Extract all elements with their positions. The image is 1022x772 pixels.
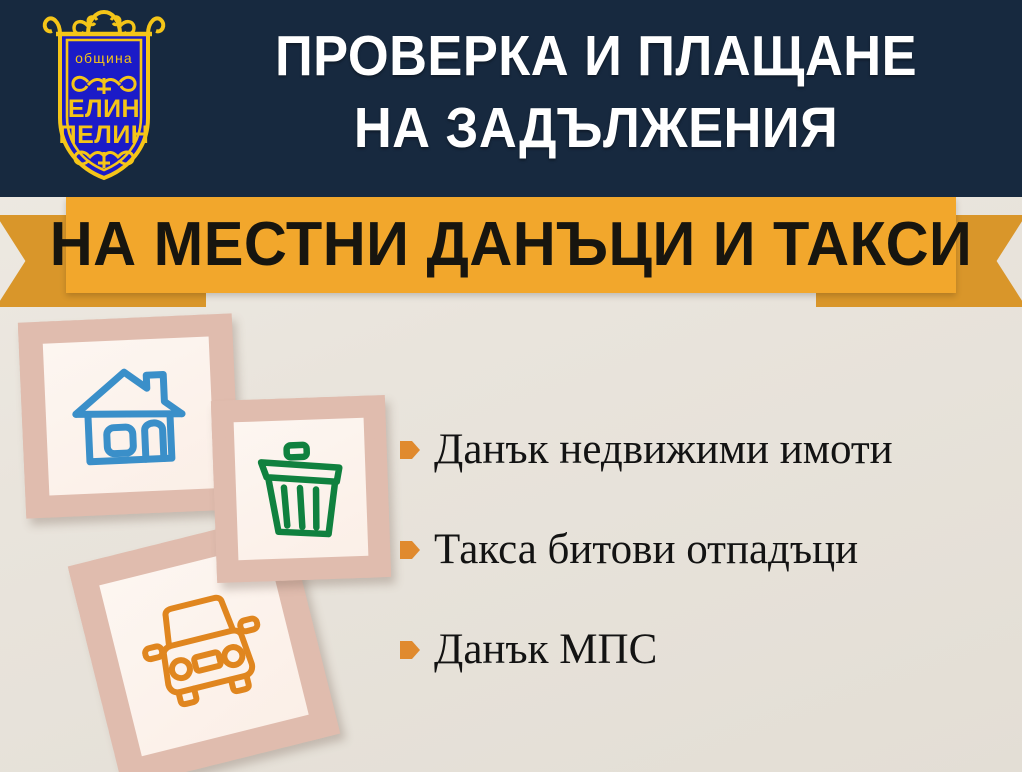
svg-text:ЕЛИН: ЕЛИН xyxy=(68,95,140,123)
list-item-label: Такса битови отпадъци xyxy=(434,525,858,575)
house-icon xyxy=(18,313,240,518)
ribbon-band: НА МЕСТНИ ДАНЪЦИ И ТАКСИ xyxy=(66,197,956,293)
ribbon-label: НА МЕСТНИ ДАНЪЦИ И ТАКСИ xyxy=(84,197,938,293)
svg-text:община: община xyxy=(75,50,133,66)
municipality-logo: община ЕЛИН ПЕЛИН xyxy=(36,6,172,188)
trash-can-icon xyxy=(211,395,391,583)
page-title-line-1: ПРОВЕРКА И ПЛАЩАНЕ xyxy=(219,20,973,92)
list-item[interactable]: Данък недвижими имоти xyxy=(400,425,1010,475)
arrow-bullet-icon xyxy=(400,438,420,462)
ribbon-banner: НА МЕСТНИ ДАНЪЦИ И ТАКСИ xyxy=(0,197,1022,312)
crest-icon: община ЕЛИН ПЕЛИН xyxy=(36,6,172,188)
services-list: Данък недвижими имоти Такса битови отпад… xyxy=(400,425,1010,725)
arrow-bullet-icon xyxy=(400,638,420,662)
stamp-card-waste xyxy=(211,395,391,583)
poster-root: община ЕЛИН ПЕЛИН xyxy=(0,0,1022,772)
list-item[interactable]: Данък МПС xyxy=(400,625,1010,675)
header-bar: община ЕЛИН ПЕЛИН xyxy=(0,0,1022,197)
list-item-label: Данък недвижими имоти xyxy=(434,425,893,475)
arrow-bullet-icon xyxy=(400,538,420,562)
page-title-line-2: НА ЗАДЪЛЖЕНИЯ xyxy=(219,92,973,164)
list-item[interactable]: Такса битови отпадъци xyxy=(400,525,1010,575)
header-title-block: ПРОВЕРКА И ПЛАЩАНЕ НА ЗАДЪЛЖЕНИЯ xyxy=(186,20,1006,164)
stamp-card-property xyxy=(18,313,240,518)
list-item-label: Данък МПС xyxy=(434,625,657,675)
svg-text:ПЕЛИН: ПЕЛИН xyxy=(59,121,150,149)
